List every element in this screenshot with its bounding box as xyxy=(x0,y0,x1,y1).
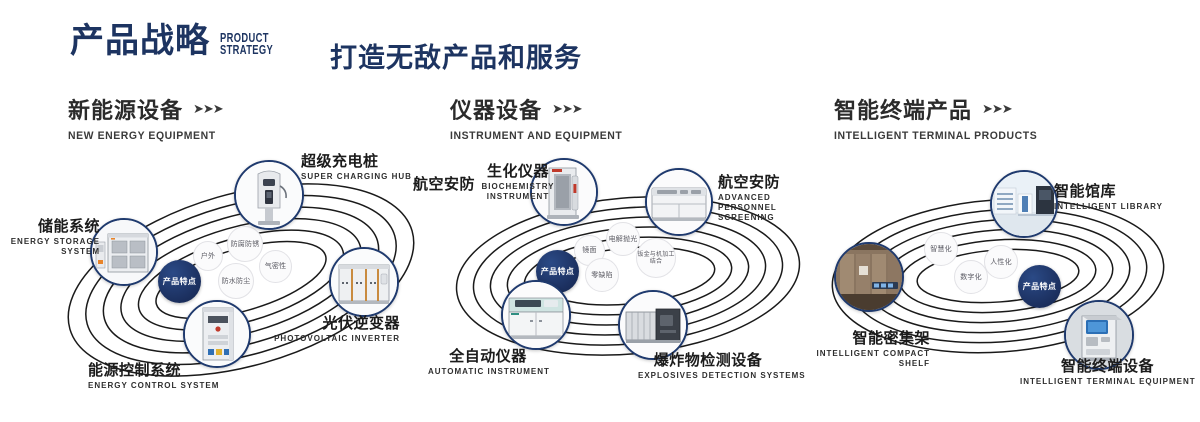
section-title-en: INTELLIGENT TERMINAL PRODUCTS xyxy=(834,130,1037,142)
section-title-cn: 新能源设备 xyxy=(68,93,183,125)
page-subtitle: 打造无敌产品和服务 xyxy=(330,36,582,75)
node-charging-pile[interactable] xyxy=(234,160,304,230)
label-aviation-security-left: 航空安防 xyxy=(413,176,475,193)
charging-pile-icon xyxy=(236,162,302,228)
node-energy-storage[interactable] xyxy=(90,218,158,286)
page-title-cn: 产品战略 xyxy=(70,24,210,58)
label-automatic-instrument: 全自动仪器 AUTOMATIC INSTRUMENT xyxy=(428,348,548,377)
library-hall-icon xyxy=(992,172,1056,236)
product-strategy-infographic: 产品战略 PRODUCT STRATEGY 打造无敌产品和服务 新能源设备 ➤➤… xyxy=(0,0,1200,422)
label-terminal-equipment: 智能终端设备 INTELLIGENT TERMINAL EQUIPMENT xyxy=(1020,358,1195,387)
label-intelligent-library: 智能馆库 INTELLIGENT LIBRARY xyxy=(1054,183,1163,212)
section-title-new-energy: 新能源设备 ➤➤➤ NEW ENERGY EQUIPMENT xyxy=(68,93,223,142)
label-charging-pile: 超级充电桩 SUPER CHARGING HUB xyxy=(301,153,412,182)
node-explosives-detection[interactable] xyxy=(618,290,688,360)
label-compact-shelf: 智能密集架 INTELLIGENT COMPACT SHELF xyxy=(790,330,930,369)
section-title-cn: 仪器设备 xyxy=(450,93,542,125)
node-personnel-screening[interactable] xyxy=(645,168,713,236)
label-energy-storage: 储能系统 ENERGY STORAGE SYSTEM xyxy=(8,218,100,257)
core-label: 产品特点 xyxy=(163,277,197,287)
page-title-en-line2: STRATEGY xyxy=(220,44,273,56)
label-pv-inverter: 光伏逆变器 PHOTOVOLTAIC INVERTER xyxy=(220,315,400,344)
node-automatic-instrument[interactable] xyxy=(501,280,571,350)
feature-bubble-1: 户外 xyxy=(193,241,223,271)
pv-inverter-cabinet-icon xyxy=(331,249,397,315)
section-title-instrument: 仪器设备 ➤➤➤ INSTRUMENT AND EQUIPMENT xyxy=(450,93,631,142)
feature-bubble-4: 气密性 xyxy=(259,250,292,283)
feature-bubble-3: 防水防尘 xyxy=(218,263,254,299)
chevrons-right-icon: ➤➤➤ xyxy=(982,101,1012,117)
node-intelligent-library[interactable] xyxy=(990,170,1058,238)
compact-shelf-icon xyxy=(836,244,902,310)
auto-analyzer-icon xyxy=(503,282,569,348)
detection-unit-icon xyxy=(620,292,686,358)
feature-bubble-2: 人性化 xyxy=(984,245,1018,279)
feature-bubble-2: 防腐防锈 xyxy=(227,226,263,262)
core-badge: 产品特点 xyxy=(158,260,201,303)
chevrons-right-icon: ➤➤➤ xyxy=(193,101,223,117)
screening-machine-icon xyxy=(647,170,711,234)
label-explosives-detection: 爆炸物检测设备 EXPLOSIVES DETECTION SYSTEMS xyxy=(638,352,778,381)
core-label: 产品特点 xyxy=(541,267,575,277)
energy-storage-cabinet-icon xyxy=(92,220,156,284)
section-title-cn: 智能终端产品 xyxy=(834,93,972,125)
page-title: 产品战略 PRODUCT STRATEGY xyxy=(70,24,294,58)
core-label: 产品特点 xyxy=(1023,282,1057,292)
section-title-en: NEW ENERGY EQUIPMENT xyxy=(68,130,216,142)
feature-bubble-4: 钣金与机加工结合 xyxy=(636,238,676,278)
feature-bubble-3: 零缺陷 xyxy=(585,258,619,292)
label-energy-control: 能源控制系统 ENERGY CONTROL SYSTEM xyxy=(88,362,219,391)
section-title-en: INSTRUMENT AND EQUIPMENT xyxy=(450,130,622,142)
section-title-intelligent-terminal: 智能终端产品 ➤➤➤ INTELLIGENT TERMINAL PRODUCTS xyxy=(834,93,1048,142)
feature-bubble-1: 智慧化 xyxy=(924,232,958,266)
feature-bubble-2: 电解抛光 xyxy=(606,222,640,256)
node-compact-shelf[interactable] xyxy=(834,242,904,312)
node-pv-inverter[interactable] xyxy=(329,247,399,317)
core-badge: 产品特点 xyxy=(1018,265,1061,308)
page-title-en: PRODUCT STRATEGY xyxy=(220,32,273,56)
label-biochemistry-instrument: 生化仪器 BIOCHEMISTRY INSTRUMENT xyxy=(470,163,566,202)
feature-bubble-3: 数字化 xyxy=(954,260,988,294)
label-personnel-screening: 航空安防 ADVANCED PERSONNEL SCREENING xyxy=(718,174,818,223)
chevrons-right-icon: ➤➤➤ xyxy=(552,101,582,117)
